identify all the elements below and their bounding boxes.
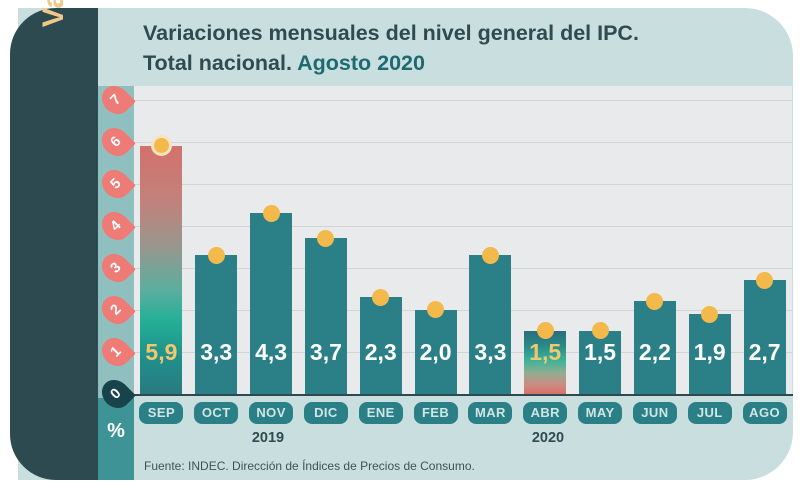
data-point-marker-mar[interactable] <box>482 247 499 264</box>
month-badge-feb[interactable]: FEB <box>414 402 458 424</box>
month-badge-may[interactable]: MAY <box>578 402 622 424</box>
title-line-2-plain: Total nacional. <box>143 51 297 75</box>
bar-value-abr: 1,5 <box>519 339 571 366</box>
data-point-marker-ago[interactable] <box>756 272 773 289</box>
month-badge-nov[interactable]: NOV <box>249 402 293 424</box>
year-label-2019: 2019 <box>228 430 308 446</box>
sidebar-rail: Variaciones mensuales <box>10 8 98 480</box>
bar-value-mar: 3,3 <box>464 339 516 366</box>
chart-canvas: Variaciones mensuales Variaciones mensua… <box>0 0 800 488</box>
bar-mar[interactable] <box>469 255 511 394</box>
source-note: Fuente: INDEC. Dirección de Índices de P… <box>144 459 475 473</box>
zero-axis-line <box>110 394 793 396</box>
bar-value-dic: 3,7 <box>300 339 352 366</box>
bar-ago[interactable] <box>744 280 786 394</box>
bar-dic[interactable] <box>305 238 347 394</box>
month-badge-jun[interactable]: JUN <box>633 402 677 424</box>
bar-value-jul: 1,9 <box>684 339 736 366</box>
gridline <box>134 142 792 143</box>
y-axis-title: Variaciones mensuales <box>10 0 98 96</box>
bar-value-ene: 2,3 <box>355 339 407 366</box>
bar-value-jun: 2,2 <box>629 339 681 366</box>
sidebar-label-wrap: Variaciones mensuales <box>10 8 98 480</box>
data-point-marker-oct[interactable] <box>208 247 225 264</box>
gridline <box>134 100 792 101</box>
month-badge-ago[interactable]: AGO <box>743 402 787 424</box>
bar-value-feb: 2,0 <box>410 339 462 366</box>
data-point-marker-ene[interactable] <box>372 289 389 306</box>
data-point-marker-may[interactable] <box>592 322 609 339</box>
bar-value-may: 1,5 <box>574 339 626 366</box>
bar-value-oct: 3,3 <box>190 339 242 366</box>
bar-value-ago: 2,7 <box>739 339 791 366</box>
month-badge-oct[interactable]: OCT <box>194 402 238 424</box>
year-label-2020: 2020 <box>508 430 588 446</box>
data-point-marker-jul[interactable] <box>701 306 718 323</box>
month-badge-abr[interactable]: ABR <box>523 402 567 424</box>
page-title: Variaciones mensuales del nivel general … <box>143 18 773 78</box>
title-line-1: Variaciones mensuales del nivel general … <box>143 21 639 45</box>
data-point-marker-nov[interactable] <box>263 205 280 222</box>
gridline <box>134 226 792 227</box>
bar-oct[interactable] <box>195 255 237 394</box>
gridline <box>134 184 792 185</box>
bar-value-sep: 5,9 <box>135 339 187 366</box>
bar-value-nov: 4,3 <box>245 339 297 366</box>
bar-nov[interactable] <box>250 213 292 394</box>
unit-label: % <box>98 420 134 443</box>
month-badge-ene[interactable]: ENE <box>359 402 403 424</box>
month-badge-dic[interactable]: DIC <box>304 402 348 424</box>
month-badge-sep[interactable]: SEP <box>139 402 183 424</box>
title-line-2-accent: Agosto 2020 <box>297 51 425 75</box>
month-badge-mar[interactable]: MAR <box>468 402 512 424</box>
month-badge-jul[interactable]: JUL <box>688 402 732 424</box>
